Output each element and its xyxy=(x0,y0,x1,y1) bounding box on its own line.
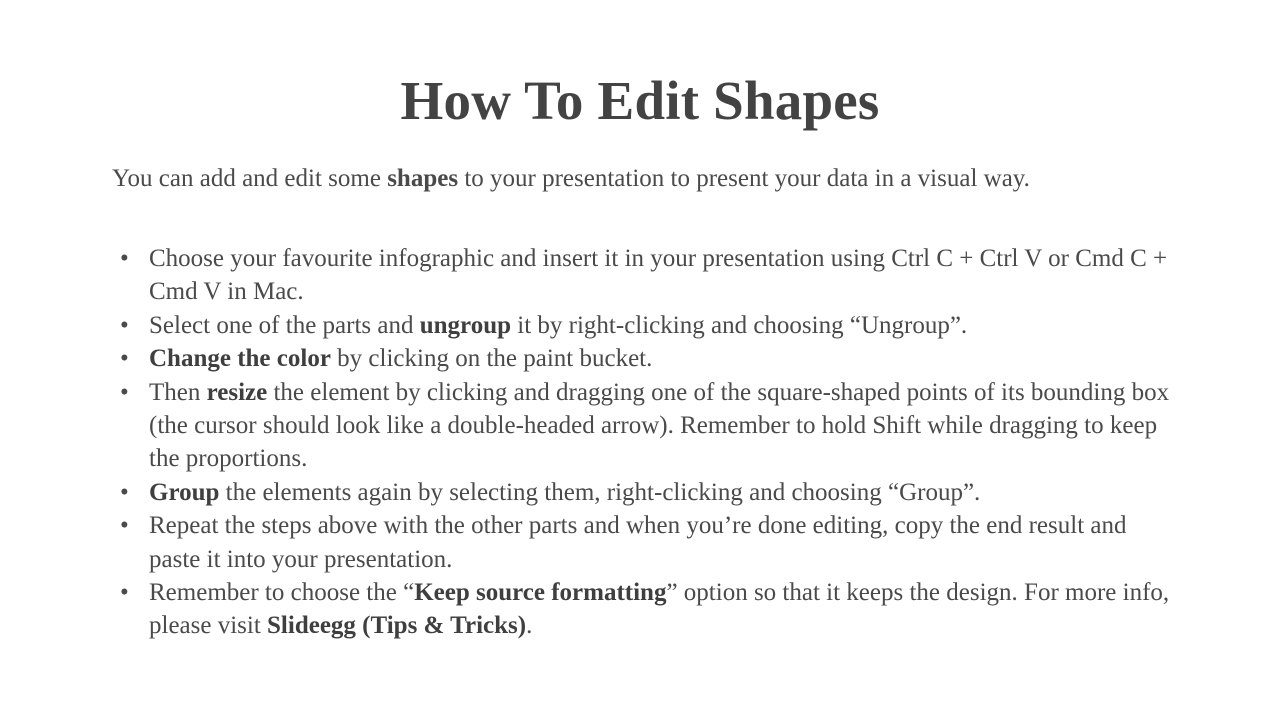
instruction-bullet-list: • Choose your favourite infographic and … xyxy=(112,242,1172,643)
list-item-text: Then resize the element by clicking and … xyxy=(149,376,1172,476)
presentation-slide: How To Edit Shapes You can add and edit … xyxy=(0,0,1280,720)
list-item: • Group the elements again by selecting … xyxy=(112,476,1172,509)
list-item-text: Group the elements again by selecting th… xyxy=(149,476,1172,509)
list-item-text: Select one of the parts and ungroup it b… xyxy=(149,309,1172,342)
bullet-dot-icon: • xyxy=(120,242,134,275)
bullet-dot-icon: • xyxy=(120,509,134,542)
list-item-text: Remember to choose the “Keep source form… xyxy=(149,576,1172,643)
list-item: • Repeat the steps above with the other … xyxy=(112,509,1172,576)
bullet-dot-icon: • xyxy=(120,376,134,409)
list-item-text: Repeat the steps above with the other pa… xyxy=(149,509,1172,576)
intro-text-part-1: You can add and edit some xyxy=(112,165,387,192)
list-item: • Change the color by clicking on the pa… xyxy=(112,342,1172,375)
list-item: • Then resize the element by clicking an… xyxy=(112,376,1172,476)
bullet-dot-icon: • xyxy=(120,309,134,342)
bullet-dot-icon: • xyxy=(120,576,134,609)
list-item-text: Choose your favourite infographic and in… xyxy=(149,242,1172,309)
bullet-dot-icon: • xyxy=(120,342,134,375)
bullet-dot-icon: • xyxy=(120,476,134,509)
intro-text-part-2: to your presentation to present your dat… xyxy=(458,165,1030,192)
list-item: • Remember to choose the “Keep source fo… xyxy=(112,576,1172,643)
intro-paragraph: You can add and edit some shapes to your… xyxy=(112,162,1172,196)
intro-bold-shapes: shapes xyxy=(387,165,458,192)
page-title: How To Edit Shapes xyxy=(0,69,1280,133)
list-item-text: Change the color by clicking on the pain… xyxy=(149,342,1172,375)
slide-body: You can add and edit some shapes to your… xyxy=(112,162,1172,643)
list-item: • Select one of the parts and ungroup it… xyxy=(112,309,1172,342)
list-item: • Choose your favourite infographic and … xyxy=(112,242,1172,309)
